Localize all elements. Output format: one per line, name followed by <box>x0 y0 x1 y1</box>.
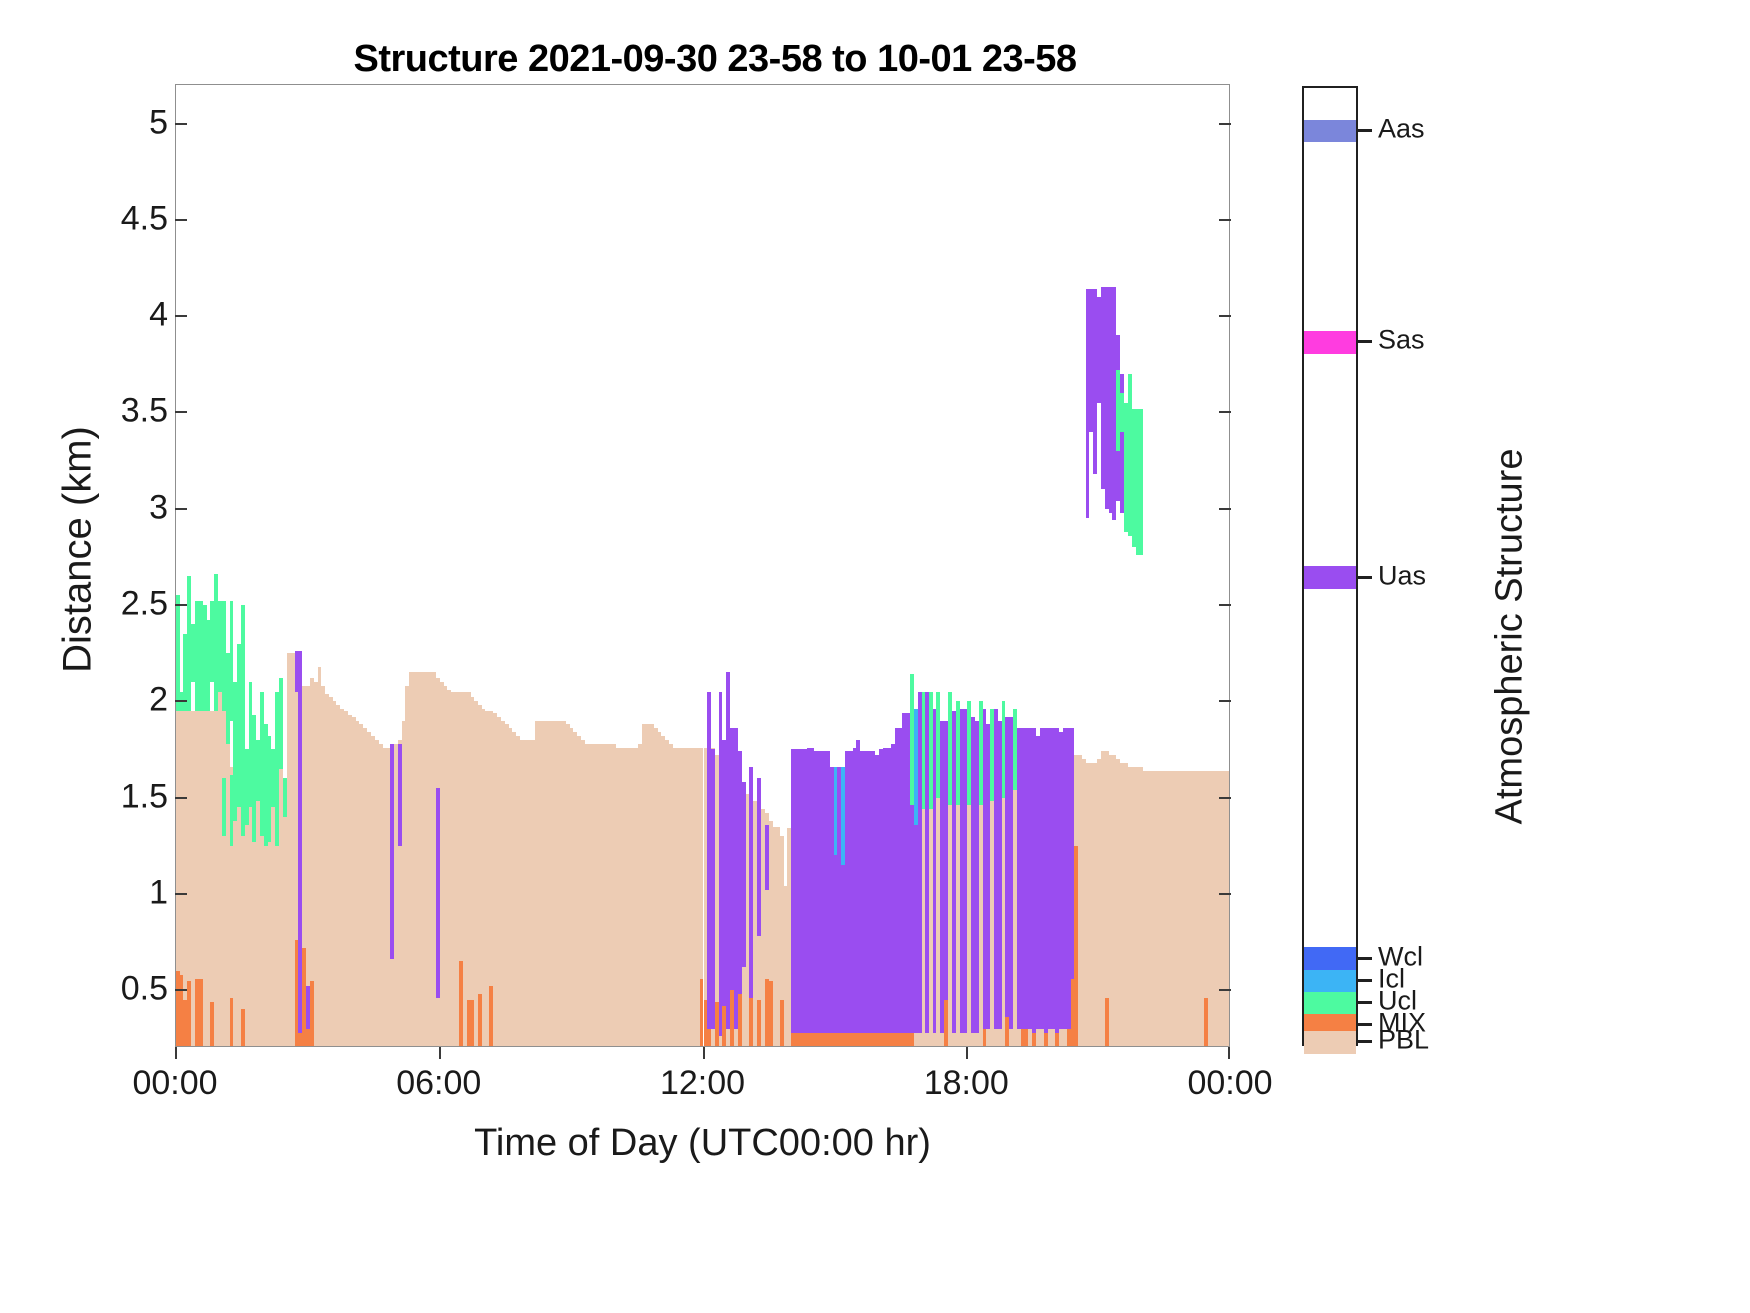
colorbar-tick <box>1358 1001 1372 1004</box>
chart-title: Structure 2021-09-30 23-58 to 10-01 23-5… <box>180 38 1250 81</box>
x-tick <box>439 1047 441 1059</box>
y-tick-label: 2 <box>149 681 168 720</box>
y-tick-right <box>1219 411 1231 413</box>
y-tick-right <box>1219 797 1231 799</box>
x-tick-label: 00:00 <box>1187 1064 1272 1103</box>
y-tick <box>175 315 187 317</box>
y-tick <box>175 989 187 991</box>
colorbar-swatch-ucl <box>1304 992 1356 1015</box>
y-tick-right <box>1219 604 1231 606</box>
plot-area <box>175 84 1230 1047</box>
y-tick-label: 2.5 <box>121 585 168 624</box>
chart-root: Structure 2021-09-30 23-58 to 10-01 23-5… <box>0 0 1750 1313</box>
y-tick-right <box>1219 508 1231 510</box>
y-tick-label: 1.5 <box>121 777 168 816</box>
colorbar-swatch-icl <box>1304 970 1356 993</box>
y-tick <box>175 219 187 221</box>
layer-segment-pbl <box>1227 771 1230 1047</box>
y-tick <box>175 508 187 510</box>
y-tick-right <box>1219 700 1231 702</box>
colorbar-swatch-wcl <box>1304 947 1356 970</box>
x-tick <box>1228 1047 1230 1059</box>
colorbar-label-uas: Uas <box>1378 560 1426 591</box>
y-tick <box>175 893 187 895</box>
colorbar-tick <box>1358 979 1372 982</box>
y-axis-label: Distance (km) <box>56 340 101 760</box>
colorbar-swatch-pbl <box>1304 1031 1356 1054</box>
y-tick-right <box>1219 315 1231 317</box>
colorbar-swatch-aas <box>1304 120 1356 143</box>
y-tick-right <box>1219 219 1231 221</box>
x-tick-label: 12:00 <box>660 1064 745 1103</box>
colorbar-tick <box>1358 1040 1372 1043</box>
y-tick <box>175 797 187 799</box>
y-tick-label: 3.5 <box>121 392 168 431</box>
colorbar-label-sas: Sas <box>1378 325 1425 356</box>
y-tick-label: 0.5 <box>121 970 168 1009</box>
colorbar-swatch-uas <box>1304 566 1356 589</box>
x-axis-label: Time of Day (UTC00:00 hr) <box>175 1122 1230 1165</box>
colorbar-title: Atmospheric Structure <box>1489 427 1532 847</box>
y-tick-label: 5 <box>149 103 168 142</box>
colorbar-tick <box>1358 957 1372 960</box>
colorbar-tick <box>1358 1023 1372 1026</box>
x-tick-label: 00:00 <box>132 1064 217 1103</box>
colorbar-swatch-sas <box>1304 331 1356 354</box>
x-tick <box>703 1047 705 1059</box>
colorbar-label-pbl: PBL <box>1378 1025 1429 1056</box>
y-tick <box>175 411 187 413</box>
colorbar-tick <box>1358 129 1372 132</box>
y-tick-right <box>1219 893 1231 895</box>
y-tick <box>175 123 187 125</box>
data-column <box>1227 85 1230 1047</box>
x-tick-label: 18:00 <box>924 1064 1009 1103</box>
x-tick <box>175 1047 177 1059</box>
plot-canvas <box>176 85 1229 1046</box>
x-tick-label: 06:00 <box>396 1064 481 1103</box>
y-tick-label: 4 <box>149 296 168 335</box>
y-tick-label: 3 <box>149 488 168 527</box>
y-tick <box>175 604 187 606</box>
colorbar-tick <box>1358 340 1372 343</box>
y-tick-right <box>1219 123 1231 125</box>
y-tick-right <box>1219 989 1231 991</box>
y-tick-label: 4.5 <box>121 199 168 238</box>
y-tick-label: 1 <box>149 873 168 912</box>
colorbar <box>1302 86 1358 1046</box>
x-tick <box>966 1047 968 1059</box>
colorbar-tick <box>1358 576 1372 579</box>
colorbar-label-aas: Aas <box>1378 114 1425 145</box>
y-tick <box>175 700 187 702</box>
